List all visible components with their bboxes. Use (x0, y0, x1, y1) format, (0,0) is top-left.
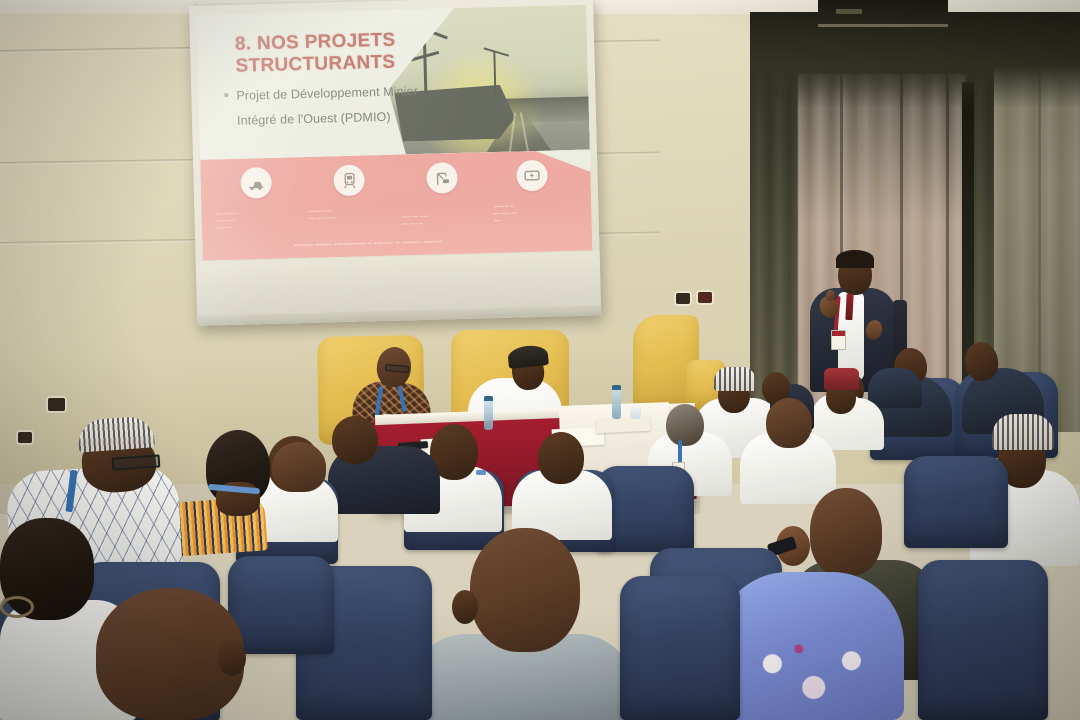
attendee-head (470, 528, 580, 652)
attendee-ear (452, 590, 478, 624)
attendee-head (766, 398, 812, 448)
drinking-glass[interactable] (630, 404, 641, 419)
microphone-hand (826, 290, 835, 301)
slide-bullet-marker (224, 93, 228, 97)
attendee-ear (218, 640, 246, 676)
slide-canvas: 8. NOS PROJETS STRUCTURANTS Projet de Dé… (196, 5, 592, 261)
attendee-torso (868, 368, 922, 408)
photo-crane-jib (484, 47, 509, 56)
slide-band-footer: •••••••• ••••••• ••••••••••••• •• ••••••… (218, 237, 518, 251)
presenter-badge (831, 330, 846, 350)
document-paper[interactable] (596, 417, 651, 434)
photo-crane-mast (493, 51, 496, 95)
attendee-head (810, 488, 882, 576)
attendee-head (538, 432, 584, 484)
necktie (845, 294, 853, 320)
slide-title: 8. NOS PROJETS STRUCTURANTS (235, 28, 466, 77)
water-bottle[interactable] (612, 389, 621, 419)
projected-slide: 8. NOS PROJETS STRUCTURANTS Projet de Dé… (196, 5, 592, 261)
port-crane-icon (426, 162, 458, 194)
floral-headscarf (716, 572, 904, 720)
attendee-head (666, 404, 704, 446)
lanyard (476, 470, 486, 475)
wall-socket-icon (676, 293, 690, 304)
auditorium-seat[interactable] (620, 576, 740, 720)
mining-truck-icon (240, 167, 272, 199)
band-text-line: •••• ••••• ••• (402, 219, 480, 228)
embroidered-cap (992, 414, 1054, 450)
slide-band-column: ••••• •••••• •• ••••• •• •••• •••••• ••• (215, 209, 294, 232)
railway-train-icon (333, 164, 365, 196)
slide-bullet-text: Projet de Développement Minier Intégré d… (236, 77, 487, 134)
wall-socket-icon (18, 432, 32, 443)
auditorium-seat[interactable] (904, 456, 1008, 548)
water-bottle-cap (484, 396, 493, 401)
band-text-line: •••••• ••• (216, 223, 294, 232)
red-fez-cap (824, 368, 859, 390)
projection-screen[interactable]: 8. NOS PROJETS STRUCTURANTS Projet de Dé… (189, 0, 601, 326)
wall-socket-icon (698, 292, 712, 303)
eyeglasses-icon (0, 596, 34, 618)
conference-hall-photo: 8. NOS PROJETS STRUCTURANTS Projet de Dé… (0, 0, 1080, 720)
auditorium-seat[interactable] (228, 556, 334, 654)
power-plant-icon (516, 160, 548, 192)
water-bottle-cap (612, 385, 621, 390)
attendee-head (332, 416, 378, 464)
band-text-line: ••••• ••••• •••••• (309, 214, 387, 223)
wall-socket-icon (48, 398, 65, 411)
slide-band-column: ••••••• •• ••• •••• •••••• •••• •••• (493, 202, 572, 225)
slide-band-column: ••• ••••••• •••• ••••• ••••• •••••• (308, 207, 386, 223)
slide-icon-band: ••••• •••••• •• ••••• •• •••• •••••• •••… (200, 150, 593, 261)
auditorium-seat[interactable] (918, 560, 1048, 720)
presenter-hair (836, 250, 874, 268)
embroidered-cap (714, 367, 756, 391)
slide-band-column: •••••• •••• •••••• •••• ••••• ••• (402, 212, 480, 228)
attendee-head (272, 442, 326, 492)
lanyard (678, 440, 682, 464)
booth-glint (836, 9, 862, 14)
water-bottle[interactable] (484, 400, 493, 430)
